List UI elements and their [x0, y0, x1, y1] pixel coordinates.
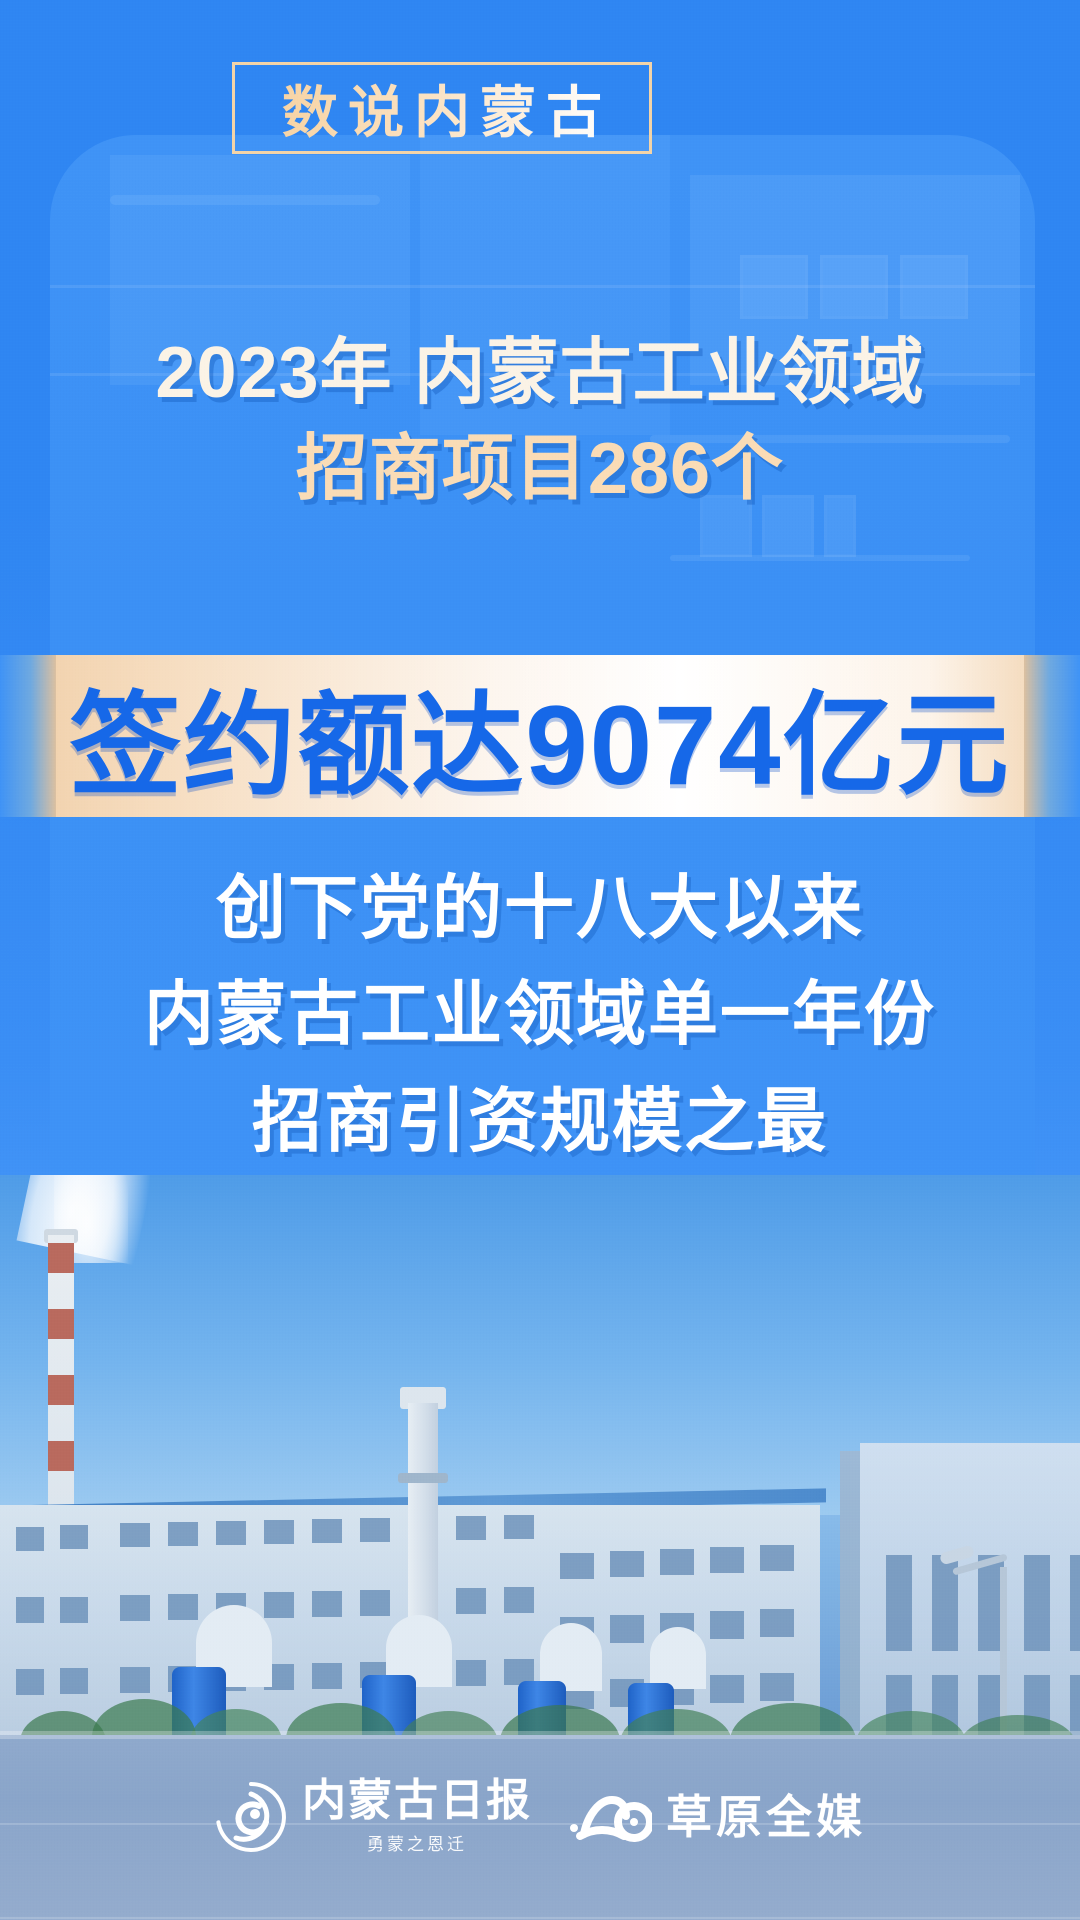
cloud-logo-icon [566, 1788, 652, 1846]
ghost-pipe-2 [670, 555, 970, 561]
infographic-poster: 数说内蒙古 2023年 内蒙古工业领域 招商项目286个 签约额达9074亿元 … [0, 0, 1080, 1920]
logo-subtext-mongolian: 勇蒙之恩迁 [367, 1830, 467, 1855]
logo-grassland-media: 草原全媒 [566, 1788, 866, 1846]
logo-name-grassland: 草原全媒 [666, 1794, 866, 1840]
body-line-1: 创下党的十八大以来 [0, 855, 1080, 961]
duct-4 [650, 1627, 706, 1689]
ghost-square-1 [740, 255, 808, 319]
ghost-beam [110, 195, 380, 205]
logo-text-group-1: 内蒙古日报 勇蒙之恩迁 [302, 1779, 532, 1855]
footer-logos: 内蒙古日报 勇蒙之恩迁 草原全媒 [0, 1762, 1080, 1872]
body-line-3: 招商引资规模之最 [0, 1068, 1080, 1174]
headline-block: 2023年 内蒙古工业领域 招商项目286个 [0, 330, 1080, 514]
body-line-2: 内蒙古工业领域单一年份 [0, 961, 1080, 1067]
banner-edge-left [0, 655, 56, 817]
headline-line-1: 2023年 内蒙古工业领域 [0, 330, 1080, 418]
body-text-block: 创下党的十八大以来 内蒙古工业领域单一年份 招商引资规模之最 [0, 855, 1080, 1174]
curb-line [0, 1731, 1080, 1739]
highlight-banner: 签约额达9074亿元 [0, 655, 1080, 817]
smokestack [48, 1235, 74, 1505]
logo-inner-mongolia-daily: 内蒙古日报 勇蒙之恩迁 [214, 1779, 532, 1855]
headline-line-2: 招商项目286个 [0, 426, 1080, 514]
page-title: 数说内蒙古 [272, 68, 612, 149]
pavement-seam-2 [0, 1917, 1080, 1919]
title-badge: 数说内蒙古 [232, 62, 652, 154]
highlight-figure: 签约额达9074亿元 [69, 655, 1010, 817]
logo-name-daily: 内蒙古日报 [302, 1779, 532, 1823]
ghost-square-2 [820, 255, 888, 319]
spiral-logo-icon [214, 1780, 288, 1854]
ghost-square-3 [900, 255, 968, 319]
banner-edge-right [1024, 655, 1080, 817]
vent-platform [398, 1473, 448, 1483]
